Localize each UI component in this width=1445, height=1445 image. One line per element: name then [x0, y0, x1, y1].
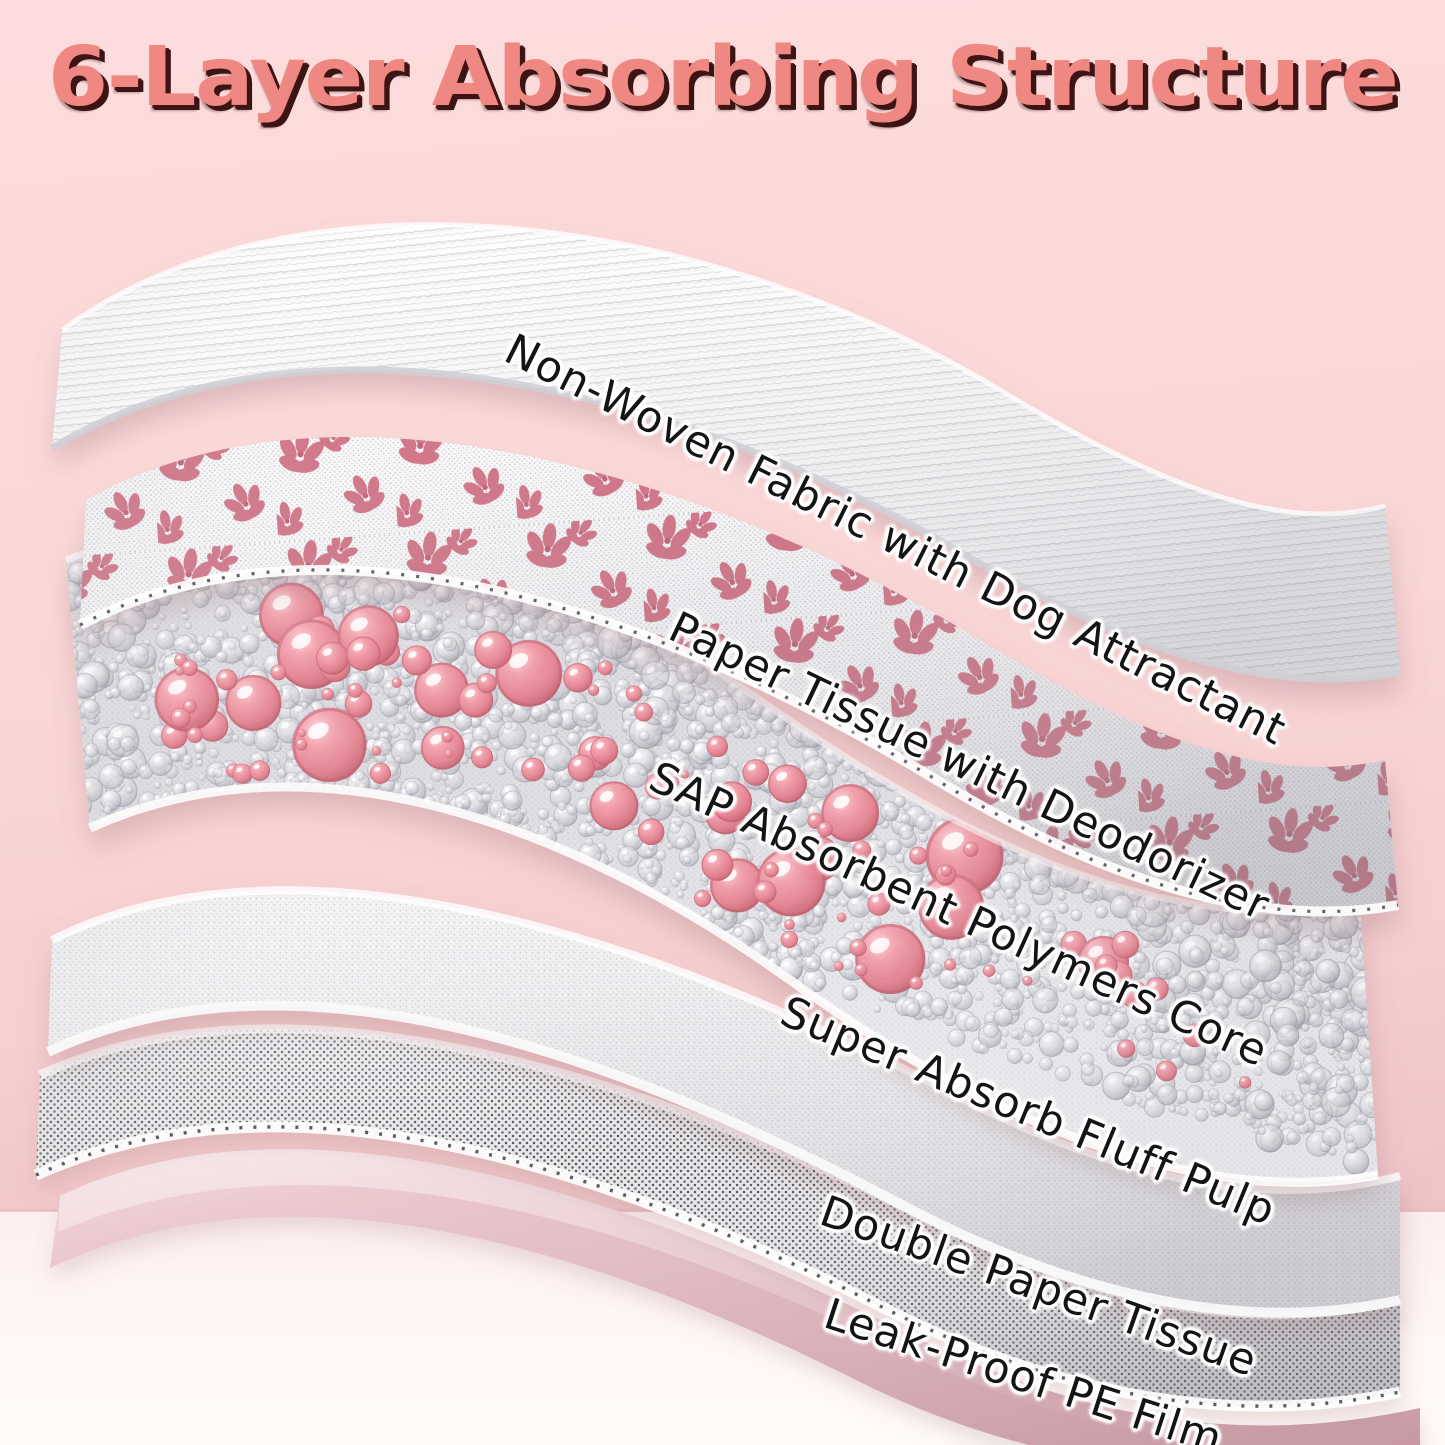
- infographic-canvas: 6-Layer Absorbing Structure Non-Woven Fa…: [0, 0, 1445, 1445]
